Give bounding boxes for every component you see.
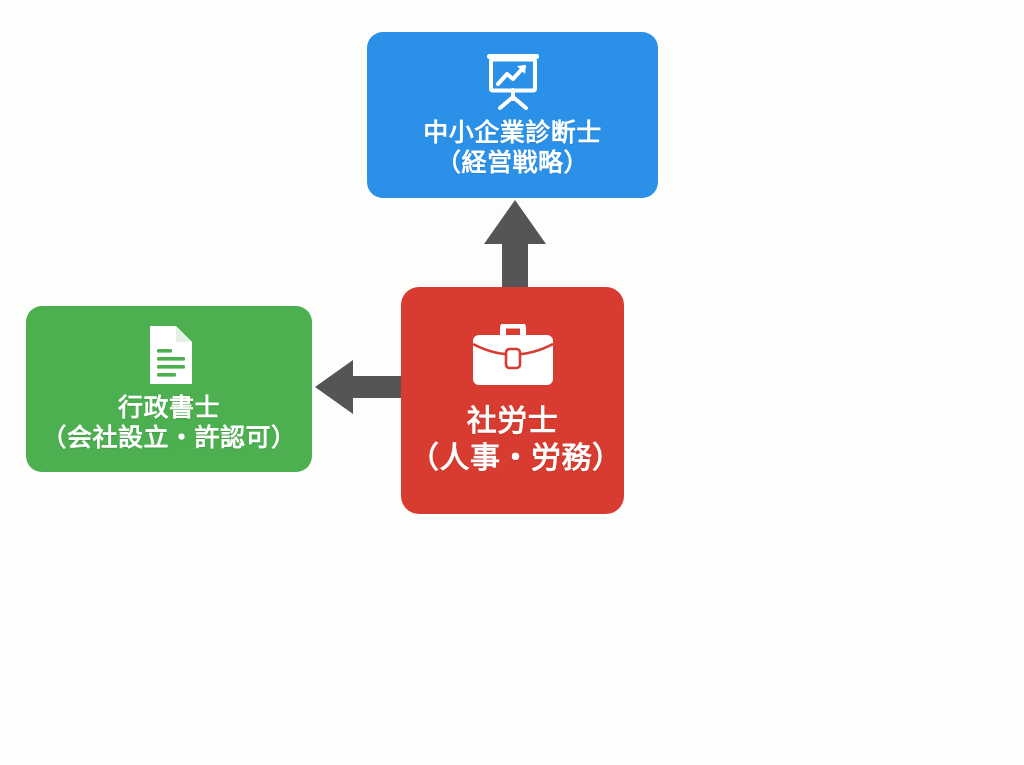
arrow-up-icon — [470, 196, 560, 291]
node-labor-sublabel: （人事・労務） — [409, 441, 616, 478]
arrow-left-icon — [312, 356, 408, 418]
node-labor[interactable]: 社労士 （人事・労務） — [401, 287, 624, 514]
node-admin-sublabel: （会社設立・許認可） — [41, 423, 296, 454]
node-strategy[interactable]: 中小企業診断士 （経営戦略） — [367, 32, 658, 198]
briefcase-icon — [470, 324, 556, 386]
node-admin-label: 行政書士 — [118, 393, 220, 424]
node-admin[interactable]: 行政書士 （会社設立・許認可） — [26, 306, 312, 472]
node-labor-label: 社労士 — [467, 404, 559, 441]
node-strategy-sublabel: （経営戦略） — [436, 148, 589, 179]
document-icon — [143, 325, 195, 385]
presentation-chart-icon — [482, 52, 544, 110]
qualification-relationship-diagram: 中小企業診断士 （経営戦略） 社労士 （人事・労務） — [0, 0, 1024, 765]
node-strategy-label: 中小企業診断士 — [423, 118, 602, 149]
